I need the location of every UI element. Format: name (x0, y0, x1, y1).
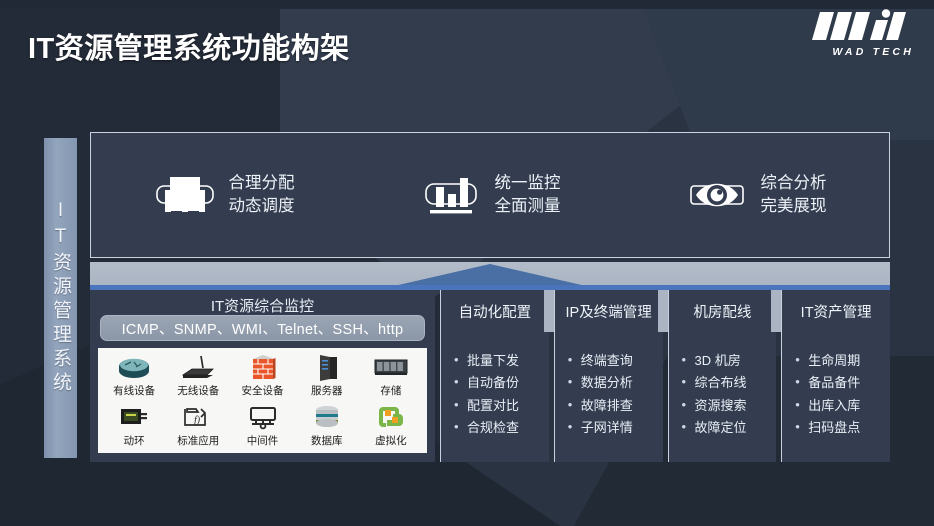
column-notch (771, 290, 781, 332)
capability-line1: 统一监控 (495, 174, 561, 192)
device-label: 虚拟化 (375, 433, 407, 448)
column-title: 自动化配置 (441, 290, 549, 336)
device-row: 动环 f) 标准应用 (102, 403, 423, 453)
device-icon-grid: 有线设备 无线设备 (98, 348, 427, 453)
list-item[interactable]: 批量下发 (467, 350, 549, 372)
vertical-system-label: IT资源管理系统 (51, 200, 70, 396)
column-notch (658, 290, 668, 332)
device-label: 数据库 (311, 433, 343, 448)
device-label: 无线设备 (177, 383, 219, 398)
firewall-icon (242, 353, 284, 382)
list-item[interactable]: 终端查询 (581, 350, 663, 372)
capability-line1: 综合分析 (761, 174, 827, 192)
list-item[interactable]: 故障定位 (695, 417, 777, 439)
module-automation-config: 自动化配置 批量下发 自动备份 配置对比 合规检查 (440, 290, 549, 462)
column-list: 生命周期 备品备件 出库入库 扫码盘点 (782, 336, 890, 440)
device-label: 服务器 (311, 383, 343, 398)
virtualization-icon (370, 403, 412, 432)
svg-text:f): f) (194, 415, 201, 426)
device-label: 安全设备 (242, 383, 284, 398)
server-rack-icon (154, 171, 216, 219)
capability-panel: 合理分配 动态调度 统一监控 全面测量 (90, 132, 890, 258)
column-title: IP及终端管理 (555, 290, 663, 336)
storage-array-icon (370, 353, 412, 382)
router-icon (113, 353, 155, 382)
device-item-wireless[interactable]: 无线设备 (166, 353, 230, 403)
device-item-middleware[interactable]: 中间件 (230, 403, 294, 453)
list-item[interactable]: 故障排查 (581, 395, 663, 417)
device-item-security[interactable]: 安全设备 (230, 353, 294, 403)
list-item[interactable]: 合规检查 (467, 417, 549, 439)
device-label: 有线设备 (113, 383, 155, 398)
column-notch (544, 290, 554, 332)
list-item[interactable]: 备品备件 (808, 372, 890, 394)
list-item[interactable]: 3D 机房 (695, 350, 777, 372)
list-item[interactable]: 生命周期 (808, 350, 890, 372)
column-title: 机房配线 (669, 290, 777, 336)
column-list: 批量下发 自动备份 配置对比 合规检查 (441, 336, 549, 440)
vertical-system-bar: IT资源管理系统 (44, 138, 77, 458)
device-item-database[interactable]: 数据库 (295, 403, 359, 453)
module-datacenter-cabling: 机房配线 3D 机房 综合布线 资源搜索 故障定位 (668, 290, 777, 462)
server-tower-icon (306, 353, 348, 382)
protocol-pill: ICMP、SNMP、WMI、Telnet、SSH、http (100, 315, 425, 341)
wad-slashes-logo-icon (810, 8, 906, 49)
module-resource-monitoring: IT资源综合监控 ICMP、SNMP、WMI、Telnet、SSH、http (90, 290, 435, 462)
capability-text: 综合分析 完美展现 (761, 172, 827, 219)
capability-line1: 合理分配 (229, 174, 295, 192)
power-environment-icon (113, 403, 155, 432)
lower-modules: IT资源综合监控 ICMP、SNMP、WMI、Telnet、SSH、http (90, 290, 890, 462)
device-label: 标准应用 (177, 433, 219, 448)
capability-item-monitoring: 统一监控 全面测量 (357, 171, 623, 219)
logo-wordmark: WAD TECH (802, 46, 914, 58)
list-item[interactable]: 配置对比 (467, 395, 549, 417)
up-triangle-icon (394, 264, 586, 286)
list-item[interactable]: 扫码盘点 (808, 417, 890, 439)
module-ip-terminal-management: IP及终端管理 终端查询 数据分析 故障排查 子网详情 (554, 290, 663, 462)
list-item[interactable]: 出库入库 (808, 395, 890, 417)
eye-icon (686, 171, 748, 219)
database-icon (306, 403, 348, 432)
list-item[interactable]: 资源搜索 (695, 395, 777, 417)
column-title: IT资产管理 (782, 290, 890, 336)
capability-item-analysis: 综合分析 完美展现 (623, 171, 889, 219)
device-item-power-environment[interactable]: 动环 (102, 403, 166, 453)
device-label: 中间件 (247, 433, 279, 448)
device-item-standard-app[interactable]: f) 标准应用 (166, 403, 230, 453)
capability-item-allocation: 合理分配 动态调度 (91, 171, 357, 219)
bar-chart-icon (420, 171, 482, 219)
list-item[interactable]: 综合布线 (695, 372, 777, 394)
device-row: 有线设备 无线设备 (102, 353, 423, 403)
device-item-storage[interactable]: 存储 (359, 353, 423, 403)
capability-line2: 完美展现 (761, 197, 827, 215)
capability-text: 统一监控 全面测量 (495, 172, 561, 219)
column-list: 终端查询 数据分析 故障排查 子网详情 (555, 336, 663, 440)
module-it-asset-management: IT资产管理 生命周期 备品备件 出库入库 扫码盘点 (781, 290, 890, 462)
background-top-strip (0, 0, 934, 9)
device-item-server[interactable]: 服务器 (295, 353, 359, 403)
middleware-icon (242, 403, 284, 432)
column-list: 3D 机房 综合布线 资源搜索 故障定位 (669, 336, 777, 440)
slide-canvas: IT资源管理系统功能构架 WAD TECH IT资源管理系统 (0, 0, 934, 526)
brand-logo: WAD TECH (802, 8, 914, 60)
standard-app-icon: f) (177, 403, 219, 432)
device-item-virtualization[interactable]: 虚拟化 (359, 403, 423, 453)
capability-line2: 动态调度 (229, 197, 295, 215)
list-item[interactable]: 自动备份 (467, 372, 549, 394)
device-label: 存储 (380, 383, 401, 398)
list-item[interactable]: 数据分析 (581, 372, 663, 394)
list-item[interactable]: 子网详情 (581, 417, 663, 439)
page-title: IT资源管理系统功能构架 (28, 25, 350, 67)
device-label: 动环 (124, 433, 145, 448)
capability-text: 合理分配 动态调度 (229, 172, 295, 219)
capability-line2: 全面测量 (495, 197, 561, 215)
wireless-ap-icon (177, 353, 219, 382)
device-item-wired[interactable]: 有线设备 (102, 353, 166, 403)
